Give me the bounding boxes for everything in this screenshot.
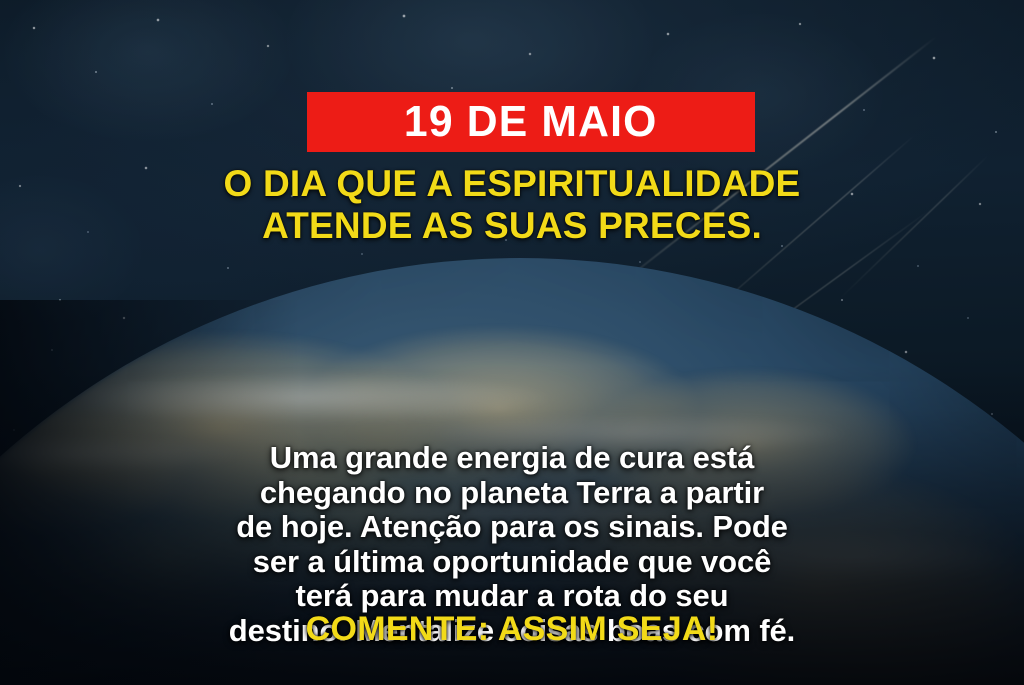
body-line-1: Uma grande energia de cura está bbox=[56, 441, 968, 476]
date-banner: 19 DE MAIO bbox=[307, 92, 755, 152]
body-line-3: de hoje. Atenção para os sinais. Pode bbox=[56, 510, 968, 545]
poster-content: 19 DE MAIO O DIA QUE A ESPIRITUALIDADE A… bbox=[0, 0, 1024, 685]
headline-line-1: O DIA QUE A ESPIRITUALIDADE bbox=[34, 163, 990, 205]
body-line-5: terá para mudar a rota do seu bbox=[56, 579, 968, 614]
headline: O DIA QUE A ESPIRITUALIDADE ATENDE AS SU… bbox=[0, 163, 1024, 247]
poster-image: 19 DE MAIO O DIA QUE A ESPIRITUALIDADE A… bbox=[0, 0, 1024, 685]
date-banner-text: 19 DE MAIO bbox=[404, 100, 658, 144]
body-line-4: ser a última oportunidade que você bbox=[56, 545, 968, 580]
call-to-action-text: COMENTE: ASSIM SEJA! bbox=[0, 612, 1024, 646]
body-line-2: chegando no planeta Terra a partir bbox=[56, 476, 968, 511]
headline-line-2: ATENDE AS SUAS PRECES. bbox=[34, 205, 990, 247]
